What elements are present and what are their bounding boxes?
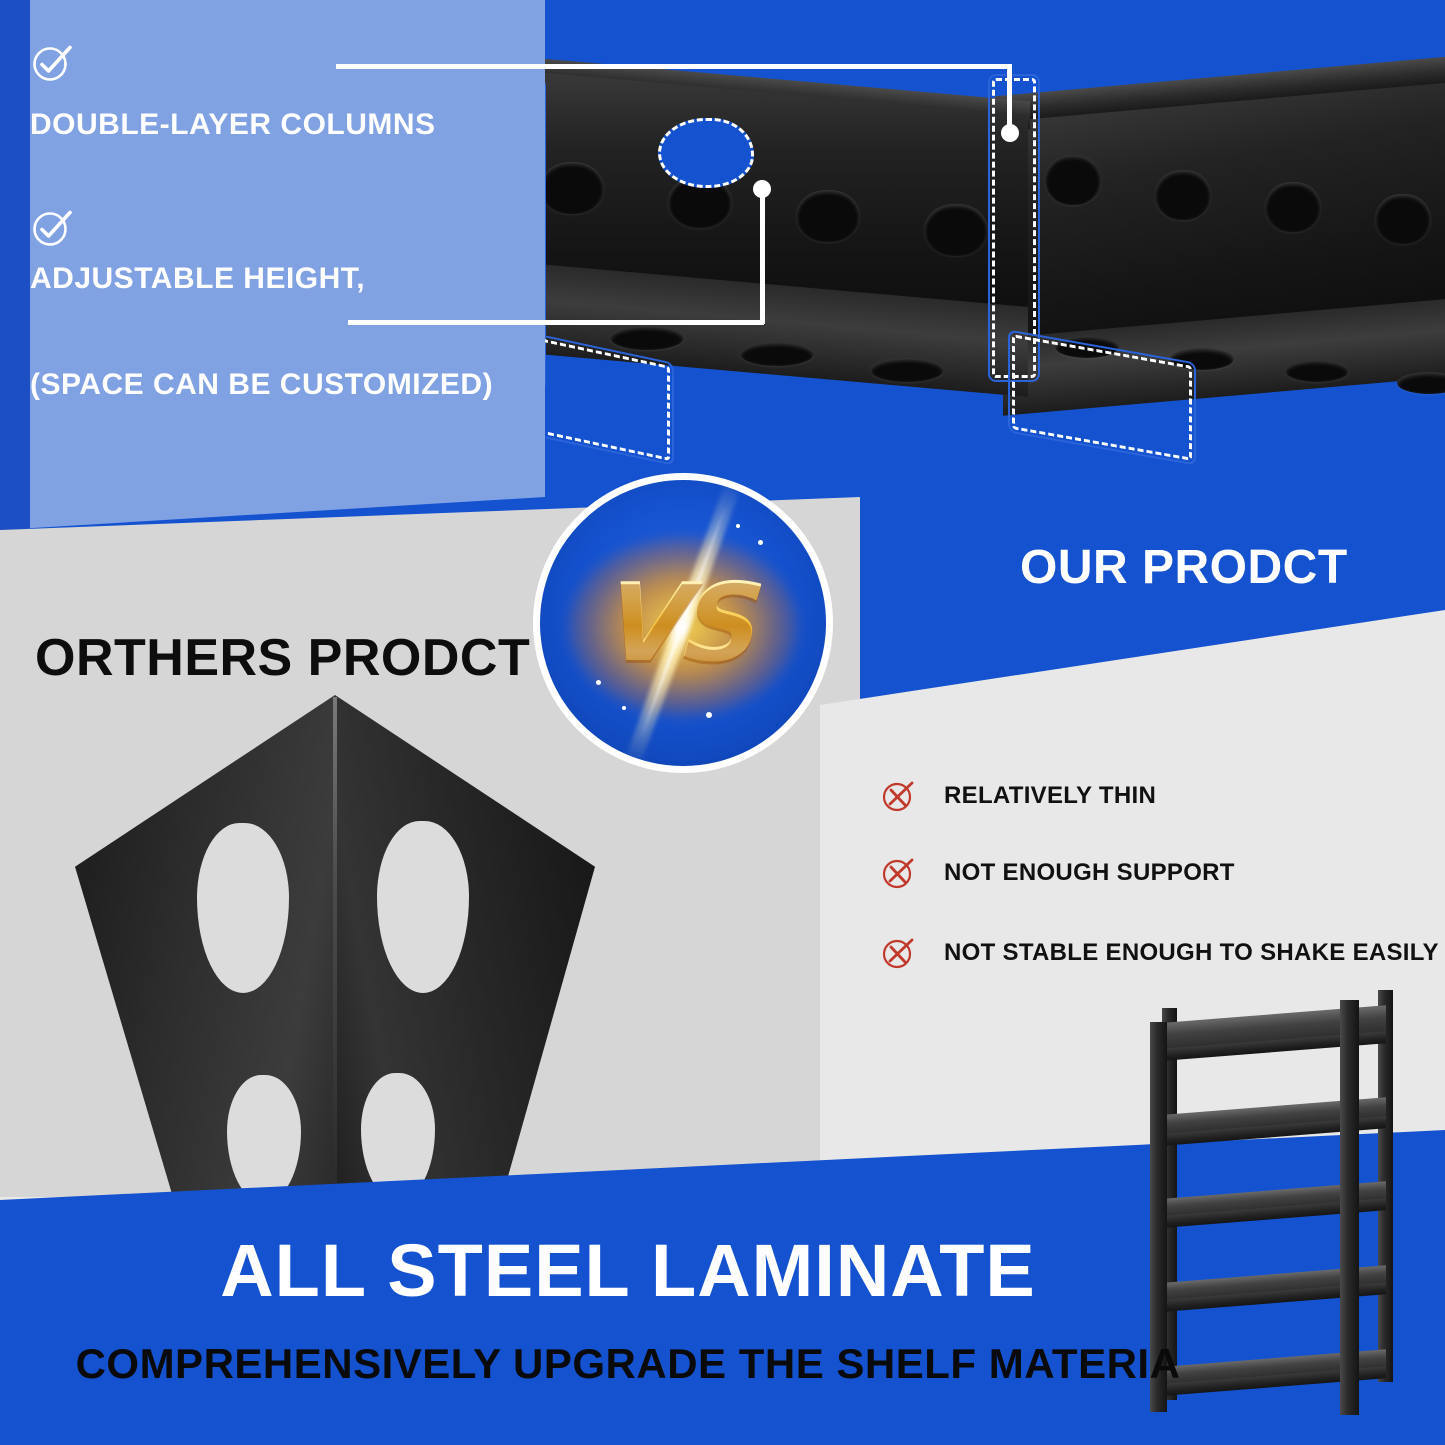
check-circle-icon bbox=[30, 205, 74, 249]
drawback-item-support: NOT ENOUGH SUPPORT bbox=[880, 855, 1235, 891]
drawback-item-thin: RELATIVELY THIN bbox=[880, 778, 1156, 814]
bracket-fold-line bbox=[333, 697, 337, 1200]
others-product-heading: ORTHERS PRODCT bbox=[35, 628, 530, 688]
double-layer-beam-photo bbox=[480, 20, 1445, 520]
drawback-label: NOT ENOUGH SUPPORT bbox=[944, 859, 1235, 887]
cross-circle-icon bbox=[880, 778, 916, 814]
spark-dot bbox=[758, 540, 763, 545]
drawback-item-stability: NOT STABLE ENOUGH TO SHAKE EASILY bbox=[880, 935, 1439, 971]
check-circle-icon bbox=[30, 40, 74, 84]
banner-title: ALL STEEL LAMINATE bbox=[0, 1228, 1256, 1313]
feature-label-double-layer: DOUBLE-LAYER COLUMNS bbox=[30, 108, 436, 142]
highlighted-keyhole bbox=[658, 118, 754, 188]
infographic-canvas: DOUBLE-LAYER COLUMNS ADJUSTABLE HEIGHT, … bbox=[0, 0, 1445, 1445]
spark-dot bbox=[706, 712, 712, 718]
feature-item-double-layer bbox=[30, 40, 74, 84]
cross-circle-icon bbox=[880, 935, 916, 971]
spark-dot bbox=[596, 680, 601, 685]
feature-label-space-customized: (SPACE CAN BE CUSTOMIZED) bbox=[30, 368, 493, 402]
banner-subtitle: COMPREHENSIVELY UPGRADE THE SHELF MATERI… bbox=[0, 1340, 1256, 1388]
bracket-face-left bbox=[75, 695, 335, 1200]
callout-line-top-horizontal bbox=[336, 64, 1012, 69]
angle-bracket-photo bbox=[75, 695, 595, 1200]
cross-circle-icon bbox=[880, 855, 916, 891]
feature-item-adjustable-height bbox=[30, 205, 74, 249]
vs-label: VS bbox=[602, 561, 765, 686]
callout-line-top-vertical bbox=[1007, 64, 1012, 132]
callout-line-mid-horizontal bbox=[348, 320, 764, 325]
vs-letters: VS bbox=[540, 480, 826, 766]
feature-label-adjustable-height: ADJUSTABLE HEIGHT, bbox=[30, 262, 365, 296]
left-accent-strip bbox=[0, 0, 30, 545]
bracket-face-right bbox=[335, 695, 595, 1200]
drawback-label: NOT STABLE ENOUGH TO SHAKE EASILY bbox=[944, 939, 1439, 967]
vs-badge: VS bbox=[533, 473, 833, 773]
callout-dot-mid bbox=[753, 180, 771, 198]
double-layer-outline-right bbox=[992, 78, 1036, 378]
our-product-heading: OUR PRODCT bbox=[1020, 540, 1348, 595]
spark-dot bbox=[622, 706, 626, 710]
drawback-label: RELATIVELY THIN bbox=[944, 782, 1156, 810]
callout-dot-top bbox=[1001, 124, 1019, 142]
spark-dot bbox=[736, 524, 740, 528]
callout-line-mid-vertical bbox=[760, 188, 765, 324]
shelf-post-front-right bbox=[1340, 1000, 1359, 1415]
